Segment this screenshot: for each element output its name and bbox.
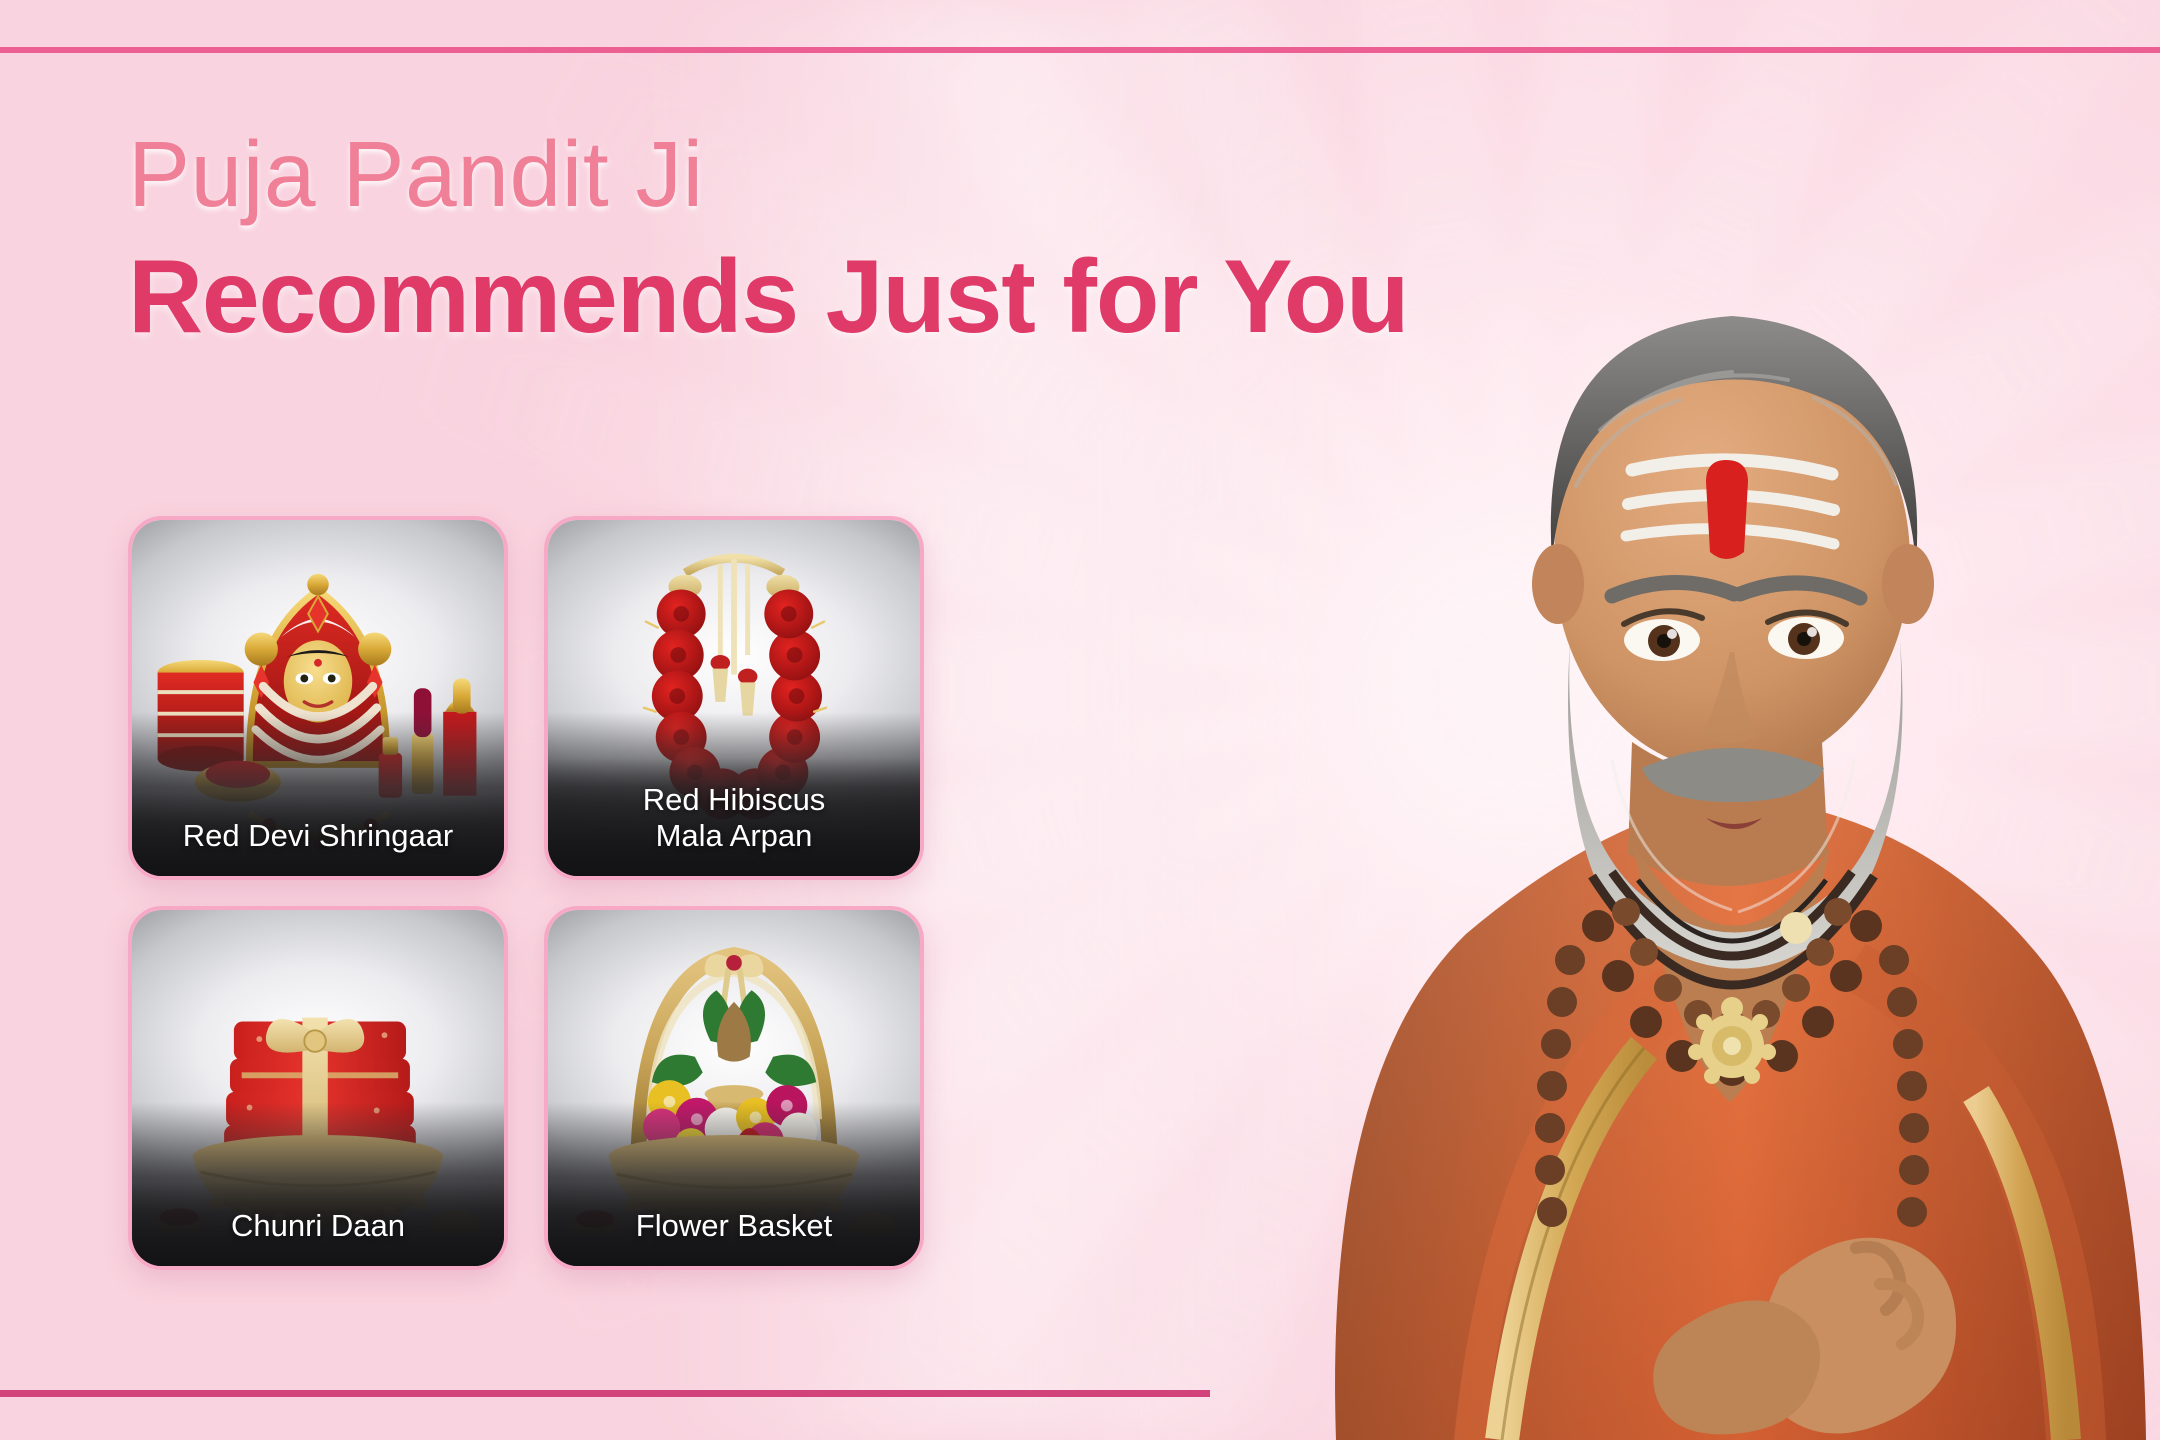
card-label: Chunri Daan	[231, 1208, 405, 1244]
card-caption: Flower Basket	[548, 1182, 920, 1266]
card-label: Red Devi Shringaar	[183, 818, 454, 854]
bottom-accent-rule	[0, 1390, 1210, 1397]
card-caption: Red Devi Shringaar	[132, 792, 504, 876]
recommendation-card-grid: Red Devi Shringaar	[128, 516, 958, 1270]
card-red-devi-shringaar[interactable]: Red Devi Shringaar	[128, 516, 508, 880]
card-caption: Red Hibiscus Mala Arpan	[548, 758, 920, 876]
card-chunri-daan[interactable]: Chunri Daan	[128, 906, 508, 1270]
card-caption: Chunri Daan	[132, 1182, 504, 1266]
pandit-figure	[1240, 0, 2160, 1440]
card-label: Flower Basket	[636, 1208, 832, 1244]
card-red-hibiscus-mala-arpan[interactable]: Red Hibiscus Mala Arpan	[544, 516, 924, 880]
promotional-banner: Puja Pandit Ji Recommends Just for You	[0, 0, 2160, 1440]
card-label: Red Hibiscus Mala Arpan	[643, 782, 826, 854]
card-flower-basket[interactable]: Flower Basket	[544, 906, 924, 1270]
